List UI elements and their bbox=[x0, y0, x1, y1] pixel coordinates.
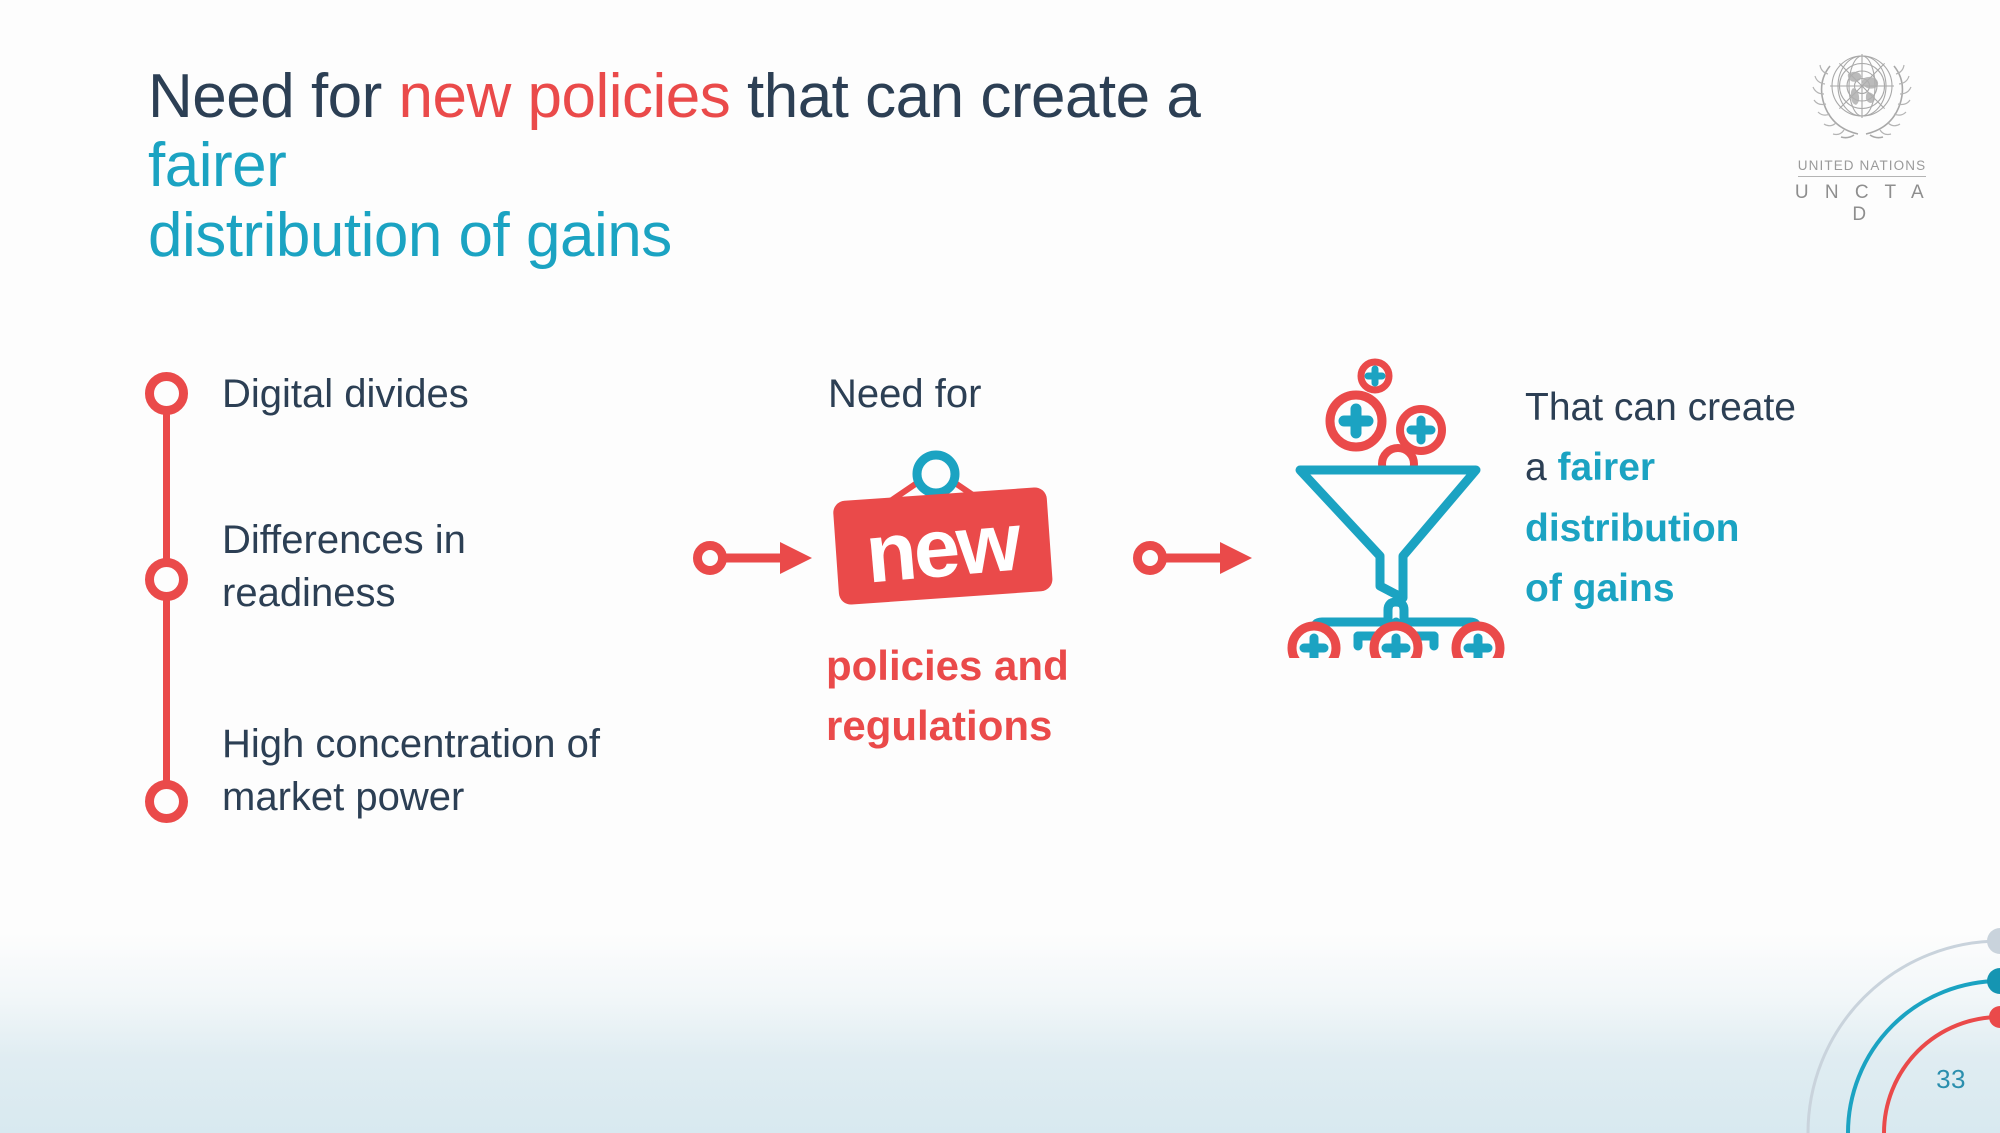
corner-arc-decoration bbox=[1770, 903, 2000, 1133]
title-segment-lead: Need for bbox=[148, 62, 399, 131]
title-segment-accent: fairer bbox=[148, 131, 286, 200]
slide-canvas: Need for new policies that can create a … bbox=[0, 0, 2000, 1133]
outcome-emphasis-1: fairer bbox=[1558, 446, 1656, 489]
title-line-two: distribution of gains bbox=[148, 201, 672, 270]
timeline-rail bbox=[145, 372, 185, 822]
outcome-article: a bbox=[1525, 446, 1558, 489]
bottom-gradient-band bbox=[0, 933, 2000, 1133]
title-segment-middle: that can create a bbox=[730, 62, 1200, 131]
logo-organization-label: UNITED NATIONS bbox=[1798, 158, 1926, 177]
center-subheading: policies and regulations bbox=[826, 636, 1186, 755]
funnel-input-tokens bbox=[1330, 362, 1442, 480]
arrow-connector-icon bbox=[1132, 528, 1260, 588]
title-segment-highlight: new policies bbox=[399, 62, 731, 131]
funnel-distribution-icon bbox=[1268, 358, 1518, 658]
page-number: 33 bbox=[1936, 1064, 1966, 1095]
svg-text:new: new bbox=[862, 494, 1025, 600]
list-item: Differences in readiness bbox=[222, 514, 642, 620]
un-emblem-icon bbox=[1798, 38, 1926, 156]
logo-division-label: U N C T A D bbox=[1782, 182, 1942, 226]
list-item: Digital divides bbox=[222, 368, 469, 421]
unctad-logo: UNITED NATIONS U N C T A D bbox=[1782, 38, 1942, 226]
center-subheading-line-1: policies and bbox=[826, 642, 1069, 689]
timeline-marker-1 bbox=[145, 372, 188, 415]
timeline-marker-2 bbox=[145, 558, 188, 601]
center-subheading-line-2: regulations bbox=[826, 702, 1052, 749]
arrow-connector-icon bbox=[692, 528, 820, 588]
list-item: High concentration of market power bbox=[222, 718, 702, 824]
outcome-emphasis-2: distribution bbox=[1525, 507, 1739, 550]
timeline-marker-3 bbox=[145, 780, 188, 823]
outcome-emphasis-3: of gains bbox=[1525, 567, 1675, 610]
funnel-output-tokens bbox=[1292, 626, 1500, 658]
new-badge-icon: new bbox=[818, 448, 1068, 618]
outcome-text: That can create a fairer distribution of… bbox=[1525, 378, 1925, 620]
center-heading: Need for bbox=[828, 372, 981, 417]
outcome-lead: That can create bbox=[1525, 386, 1796, 429]
page-title: Need for new policies that can create a … bbox=[148, 62, 1328, 270]
